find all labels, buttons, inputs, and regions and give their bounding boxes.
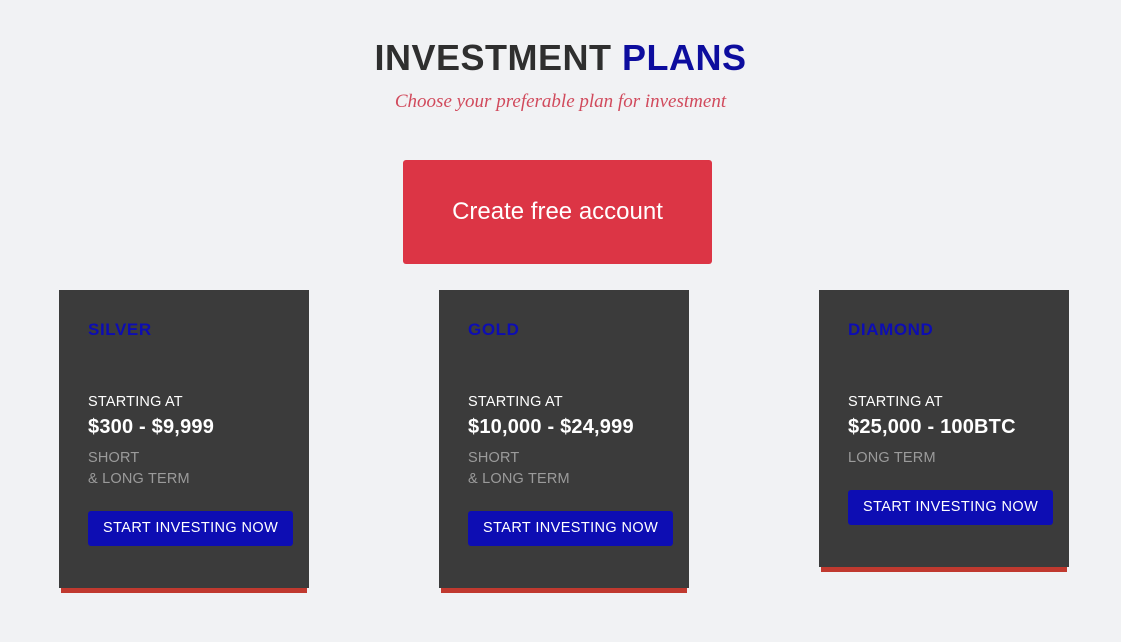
page-header: INVESTMENT PLANS Choose your preferable … <box>0 0 1121 113</box>
plan-terms: LONG TERM <box>848 448 1069 469</box>
start-investing-button[interactable]: START INVESTING NOW <box>88 511 293 546</box>
plan-card-content: SILVER STARTING AT $300 - $9,999 SHORT &… <box>59 290 309 546</box>
plan-terms: SHORT & LONG TERM <box>468 448 689 490</box>
plan-name: DIAMOND <box>848 320 1069 340</box>
plan-terms: SHORT & LONG TERM <box>88 448 309 490</box>
plan-card-underline <box>441 588 687 593</box>
page-title-accent: PLANS <box>622 37 747 78</box>
plan-card-content: GOLD STARTING AT $10,000 - $24,999 SHORT… <box>439 290 689 546</box>
plan-spacer <box>88 340 309 393</box>
plan-price: $10,000 - $24,999 <box>468 414 689 440</box>
create-free-account-button[interactable]: Create free account <box>403 160 712 264</box>
plan-name: SILVER <box>88 320 309 340</box>
plan-card-diamond[interactable]: DIAMOND STARTING AT $25,000 - 100BTC LON… <box>819 290 1069 567</box>
plan-price: $25,000 - 100BTC <box>848 414 1069 440</box>
start-investing-button[interactable]: START INVESTING NOW <box>468 511 673 546</box>
start-investing-button[interactable]: START INVESTING NOW <box>848 490 1053 525</box>
plan-term-line: & LONG TERM <box>88 469 309 490</box>
plan-term-line: SHORT <box>468 448 689 469</box>
plan-term-line: SHORT <box>88 448 309 469</box>
plan-term-line: & LONG TERM <box>468 469 689 490</box>
create-account-cta-wrapper: Create free account <box>403 160 712 264</box>
plan-card-gold[interactable]: GOLD STARTING AT $10,000 - $24,999 SHORT… <box>439 290 689 588</box>
plan-starting-label: STARTING AT <box>88 393 309 411</box>
plan-price: $300 - $9,999 <box>88 414 309 440</box>
plan-starting-label: STARTING AT <box>468 393 689 411</box>
plan-card-underline <box>61 588 307 593</box>
plans-container: SILVER STARTING AT $300 - $9,999 SHORT &… <box>0 290 1121 600</box>
plan-card-silver[interactable]: SILVER STARTING AT $300 - $9,999 SHORT &… <box>59 290 309 588</box>
page-subtitle: Choose your preferable plan for investme… <box>0 91 1121 114</box>
plan-card-content: DIAMOND STARTING AT $25,000 - 100BTC LON… <box>819 290 1069 525</box>
plan-name: GOLD <box>468 320 689 340</box>
page-title-primary: INVESTMENT <box>374 37 611 78</box>
plan-spacer <box>848 340 1069 393</box>
plan-card-underline <box>821 567 1067 572</box>
plan-starting-label: STARTING AT <box>848 393 1069 411</box>
plan-term-line: LONG TERM <box>848 448 1069 469</box>
plan-spacer <box>468 340 689 393</box>
page-title: INVESTMENT PLANS <box>0 38 1121 78</box>
